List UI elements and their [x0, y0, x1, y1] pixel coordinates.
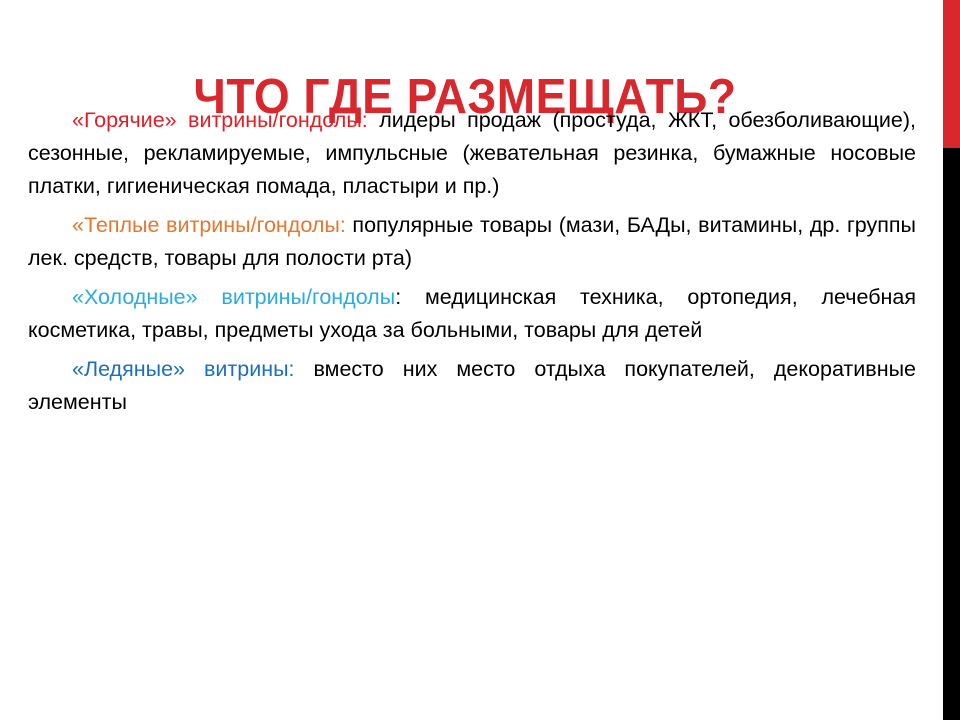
label-warm-showcases: «Теплые витрины/гондолы:: [72, 213, 346, 237]
right-edge-black-bar: [943, 148, 960, 720]
label-hot-showcases: «Горячие» витрины/гондолы:: [72, 108, 368, 132]
paragraph-ice: «Ледяные» витрины: вместо них место отды…: [28, 353, 916, 419]
paragraph-warm: «Теплые витрины/гондолы: популярные това…: [28, 209, 916, 275]
right-edge-red-bar: [943, 0, 960, 148]
slide-canvas: ЧТО ГДЕ РАЗМЕЩАТЬ? «Горячие» витрины/гон…: [0, 0, 960, 720]
slide-body: «Горячие» витрины/гондолы: лидеры продаж…: [28, 104, 916, 419]
label-ice-showcases: «Ледяные» витрины:: [72, 357, 295, 381]
label-cold-showcases: «Холодные» витрины/гондолы: [72, 285, 395, 309]
paragraph-cold: «Холодные» витрины/гондолы: медицинская …: [28, 281, 916, 347]
paragraph-hot: «Горячие» витрины/гондолы: лидеры продаж…: [28, 104, 916, 203]
